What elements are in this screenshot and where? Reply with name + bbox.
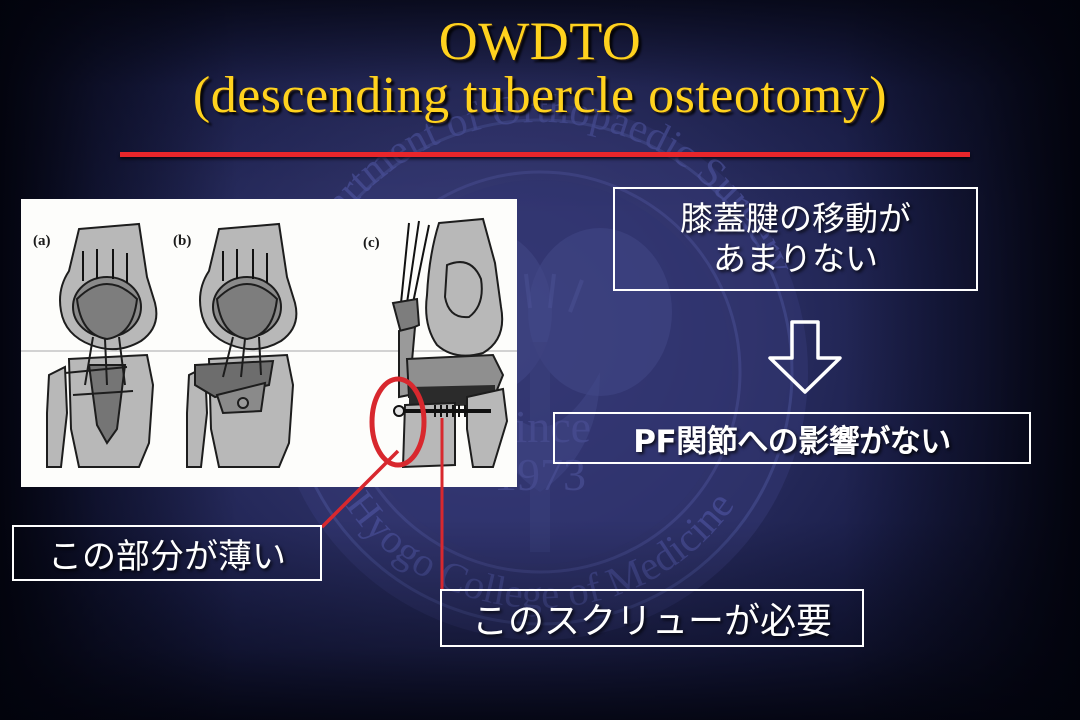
title-line-2: (descending tubercle osteotomy)	[0, 69, 1080, 122]
down-arrow-icon	[760, 318, 850, 396]
callout-pf-joint: PF関節への影響がない	[553, 412, 1031, 464]
callout-thin-part: この部分が薄い	[12, 525, 322, 581]
svg-text:(b): (b)	[173, 233, 191, 249]
osteotomy-figure-panel: (a)	[21, 199, 517, 487]
svg-text:(c): (c)	[363, 235, 380, 251]
callout-thin-part-text: この部分が薄い	[48, 529, 286, 578]
title-underline-rule	[120, 152, 970, 157]
callout-pf-joint-text: PF関節への影響がない	[633, 416, 950, 461]
svg-text:(a): (a)	[33, 233, 51, 249]
callout-patellar-tendon-line-1: 膝蓋腱の移動が	[680, 199, 911, 239]
callout-patellar-tendon-line-2: あまりない	[680, 239, 911, 279]
callout-screw-needed-text: このスクリューが必要	[472, 592, 832, 644]
presentation-slide: Since 1973 Department of Orthopaedic Sur…	[0, 0, 1080, 720]
callout-screw-needed: このスクリューが必要	[440, 589, 864, 647]
slide-title: OWDTO (descending tubercle osteotomy)	[0, 14, 1080, 122]
callout-patellar-tendon: 膝蓋腱の移動が あまりない	[613, 187, 978, 291]
title-line-1: OWDTO	[439, 11, 641, 71]
